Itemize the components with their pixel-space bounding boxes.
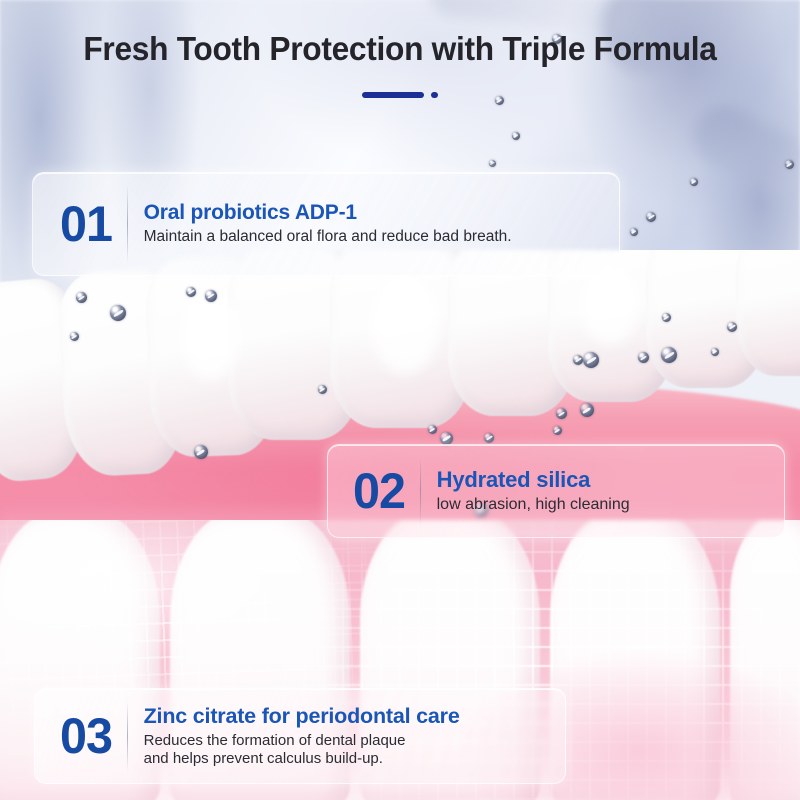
divider-bar [362,92,424,98]
feature-card-body: Oral probiotics ADP-1 Maintain a balance… [128,201,512,247]
feature-card-body: Zinc citrate for periodontal care Reduce… [128,704,460,767]
tooth [736,250,800,376]
feature-card-02: 02 Hydrated silica low abrasion, high cl… [327,444,785,538]
feature-title: Hydrated silica [437,467,630,492]
product-feature-poster: Fresh Tooth Protection with Triple Formu… [0,0,800,800]
feature-description: Reduces the formation of dental plaque a… [144,732,460,767]
feature-card-01: 01 Oral probiotics ADP-1 Maintain a bala… [32,172,620,276]
feature-description: Maintain a balanced oral flora and reduc… [144,228,512,247]
feature-description: low abrasion, high cleaning [437,495,630,515]
feature-card-body: Hydrated silica low abrasion, high clean… [421,467,630,515]
feature-title: Oral probiotics ADP-1 [144,201,512,225]
header-divider [0,92,800,98]
feature-number: 02 [349,466,418,516]
feature-number: 01 [56,199,125,249]
dental-instrument-shape [683,95,800,204]
divider-dot [431,92,438,98]
page-title: Fresh Tooth Protection with Triple Formu… [16,30,784,68]
feature-number: 03 [56,711,125,761]
feature-card-03: 03 Zinc citrate for periodontal care Red… [34,688,566,784]
poster-header: Fresh Tooth Protection with Triple Formu… [0,30,800,98]
feature-title: Zinc citrate for periodontal care [144,704,460,729]
